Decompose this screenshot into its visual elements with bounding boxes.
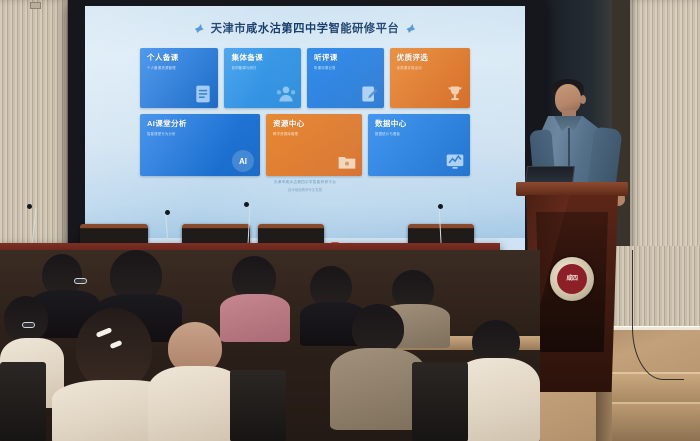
- tile-resource-center[interactable]: 资源中心 教学资源库管理: [266, 114, 362, 176]
- tile-title: AI课堂分析: [147, 120, 253, 128]
- ceiling-vent: [30, 2, 41, 9]
- auditorium-seat: [0, 362, 46, 441]
- tile-row-2: AI课堂分析 智能课堂行为分析 AI 资源中心 教学资源库管理 数据中心 数据统…: [140, 114, 470, 176]
- tile-collective-lesson-prep[interactable]: 集体备课 协同备课与研讨: [224, 48, 301, 108]
- auditorium-seat: [412, 362, 468, 441]
- glasses-icon: [22, 322, 35, 328]
- flourish-right-icon: [406, 24, 415, 33]
- tile-subtitle: 优质课评选活动: [397, 65, 463, 70]
- slide-tile-grid: 个人备课 个人备课资源管理 集体备课 协同备课与研讨: [140, 48, 470, 182]
- audience: [0, 250, 540, 441]
- trophy-icon: [445, 84, 465, 104]
- tile-subtitle: 数据统计与看板: [375, 131, 463, 136]
- microphone-head-icon: [165, 210, 170, 215]
- tile-subtitle: 智能课堂行为分析: [147, 131, 253, 136]
- presenter-ear: [580, 95, 586, 104]
- tile-title: 资源中心: [273, 120, 355, 128]
- slide-footer-subtext: 技术赋能教师专业发展: [85, 187, 525, 192]
- school-emblem: 咸四: [550, 257, 594, 301]
- tile-data-center[interactable]: 数据中心 数据统计与看板: [368, 114, 470, 176]
- tile-title: 集体备课: [231, 54, 294, 62]
- tile-row-1: 个人备课 个人备课资源管理 集体备课 协同备课与研讨: [140, 48, 470, 108]
- tile-subtitle: 教学资源库管理: [273, 131, 355, 136]
- slide-footer-text: 天津市咸水沽第四中学智能研修平台: [85, 180, 525, 185]
- projection-screen-frame: 天津市咸水沽第四中学智能研修平台 个人备课 个人备课资源管理 集体备课 协同备课…: [68, 0, 546, 262]
- tile-subtitle: 协同备课与研讨: [231, 65, 294, 70]
- monitor-chart-icon: [445, 152, 465, 172]
- laptop-screen: [525, 166, 575, 183]
- tile-personal-lesson-prep[interactable]: 个人备课 个人备课资源管理: [140, 48, 218, 108]
- projected-slide: 天津市咸水沽第四中学智能研修平台 个人备课 个人备课资源管理 集体备课 协同备课…: [85, 6, 525, 254]
- tile-title: 听评课: [314, 54, 377, 62]
- ai-badge-icon: AI: [232, 150, 254, 172]
- auditorium-seat: [230, 370, 286, 441]
- floor-cable: [632, 250, 684, 380]
- school-emblem-text: 咸四: [557, 264, 587, 294]
- tile-ai-classroom-analysis[interactable]: AI课堂分析 智能课堂行为分析 AI: [140, 114, 260, 176]
- podium-top-surface: [516, 182, 628, 196]
- slide-title: 天津市咸水沽第四中学智能研修平台: [85, 20, 525, 36]
- tile-subtitle: 个人备课资源管理: [147, 65, 211, 70]
- microphone-head-icon: [244, 202, 249, 207]
- tile-subtitle: 听课评课记录: [314, 65, 377, 70]
- tile-lesson-observation[interactable]: 听评课 听课评课记录: [307, 48, 384, 108]
- tile-title: 优质评选: [397, 54, 463, 62]
- clipboard-pen-icon: [359, 84, 379, 104]
- flourish-left-icon: [195, 24, 204, 33]
- folder-icon: [337, 152, 357, 172]
- tile-quality-selection[interactable]: 优质评选 优质课评选活动: [390, 48, 470, 108]
- tile-title: 个人备课: [147, 54, 211, 62]
- photo-scene: 天津市咸水沽第四中学智能研修平台 个人备课 个人备课资源管理 集体备课 协同备课…: [0, 0, 700, 441]
- slide-title-text: 天津市咸水沽第四中学智能研修平台: [211, 23, 400, 35]
- microphone-head-icon: [438, 204, 443, 209]
- glasses-icon: [74, 278, 87, 284]
- tile-title: 数据中心: [375, 120, 463, 128]
- group-icon: [276, 84, 296, 104]
- document-icon: [193, 84, 213, 104]
